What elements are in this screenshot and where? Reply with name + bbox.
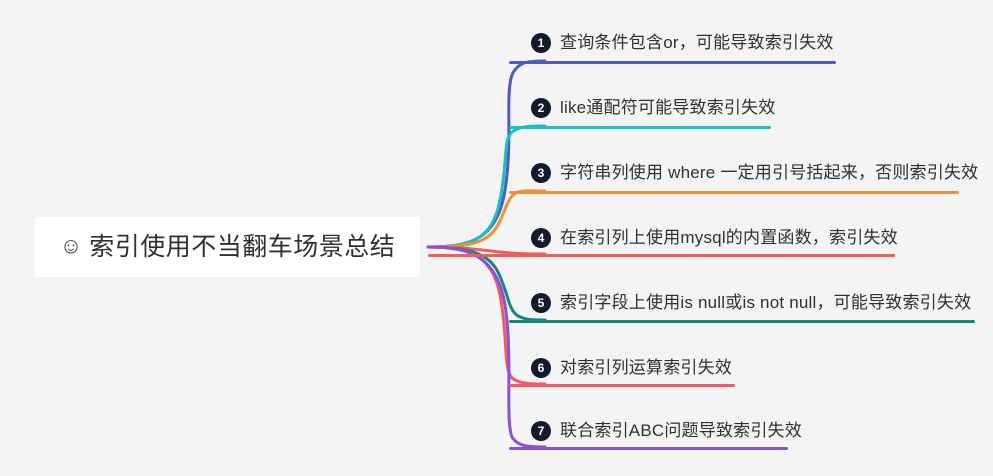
branch-curve-2 [428,126,545,247]
topic-label-2: like通配符可能导致索引失效 [560,99,776,118]
mindmap-canvas: ☺ 索引使用不当翻车场景总结 1查询条件包含or，可能导致索引失效2like通配… [0,0,993,476]
topic-item-7[interactable]: 7联合索引ABC问题导致索引失效 [531,421,802,441]
branch-curve-4 [428,247,545,254]
smiling-face-emoji: ☺ [60,233,82,259]
topic-underline-7 [509,447,788,450]
topic-item-2[interactable]: 2like通配符可能导致索引失效 [531,98,776,118]
topic-label-3: 字符串列使用 where 一定用引号括起来，否则索引失效 [560,164,978,183]
topic-underline-3 [509,191,959,194]
topic-number-badge-3: 3 [531,163,551,183]
topic-label-7: 联合索引ABC问题导致索引失效 [560,422,802,441]
topic-underline-1 [509,61,836,64]
topic-number-badge-1: 1 [531,33,551,53]
topic-item-1[interactable]: 1查询条件包含or，可能导致索引失效 [531,33,834,53]
topic-number-badge-7: 7 [531,421,551,441]
topic-underline-2 [509,126,771,129]
topic-label-4: 在索引列上使用mysql的内置函数，索引失效 [560,229,898,248]
topic-number-badge-6: 6 [531,358,551,378]
topic-underline-5 [509,320,975,323]
topic-item-5[interactable]: 5索引字段上使用is null或is not null，可能导致索引失效 [531,293,971,313]
branch-curve-6 [428,247,545,384]
topic-item-4[interactable]: 4在索引列上使用mysql的内置函数，索引失效 [531,228,898,248]
topic-number-badge-2: 2 [531,98,551,118]
topic-label-1: 查询条件包含or，可能导致索引失效 [560,34,834,53]
root-node-label: 索引使用不当翻车场景总结 [89,235,395,260]
topic-number-badge-5: 5 [531,293,551,313]
branch-curve-1 [428,61,545,247]
topic-item-3[interactable]: 3字符串列使用 where 一定用引号括起来，否则索引失效 [531,163,978,183]
branch-curve-7 [428,247,545,447]
topic-underline-6 [509,384,735,387]
topic-item-6[interactable]: 6对索引列运算索引失效 [531,358,732,378]
branch-curve-5 [428,247,545,320]
topic-label-6: 对索引列运算索引失效 [560,359,732,378]
topic-underline-4 [428,254,895,257]
root-node[interactable]: ☺ 索引使用不当翻车场景总结 [35,217,420,277]
topic-number-badge-4: 4 [531,228,551,248]
topic-label-5: 索引字段上使用is null或is not null，可能导致索引失效 [560,294,971,313]
branch-curve-3 [428,191,545,247]
